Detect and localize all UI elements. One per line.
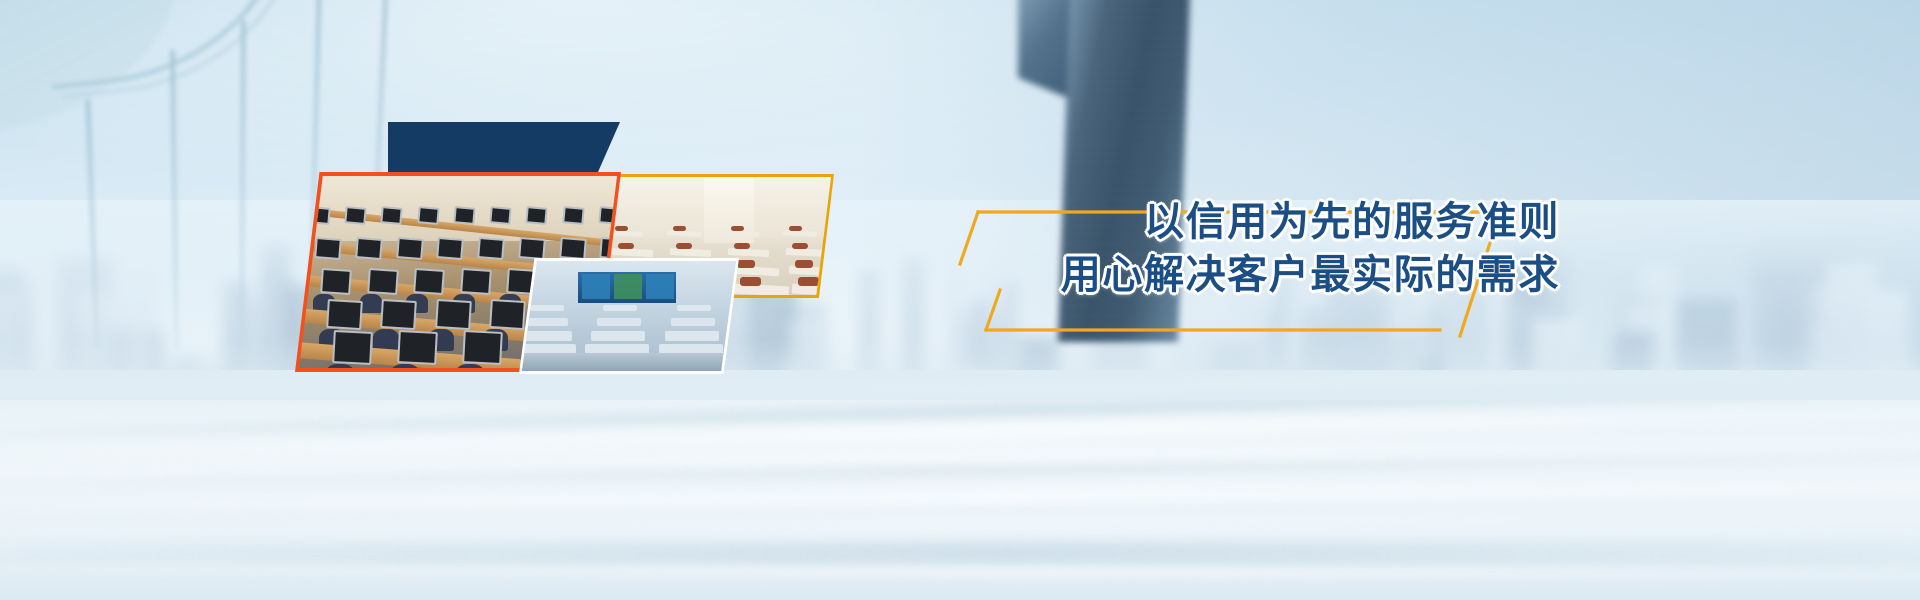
headline-block: 以信用为先的服务准则 用心解决客户最实际的需求 [820, 196, 1560, 302]
control-room-photo[interactable] [519, 258, 739, 374]
headline-line-2: 用心解决客户最实际的需求 [820, 249, 1560, 302]
headline-line-1: 以信用为先的服务准则 [820, 196, 1560, 249]
photo-collage [0, 0, 900, 420]
control-room-photo-image [522, 261, 736, 371]
promo-banner: 以信用为先的服务准则 用心解决客户最实际的需求 [0, 0, 1920, 600]
